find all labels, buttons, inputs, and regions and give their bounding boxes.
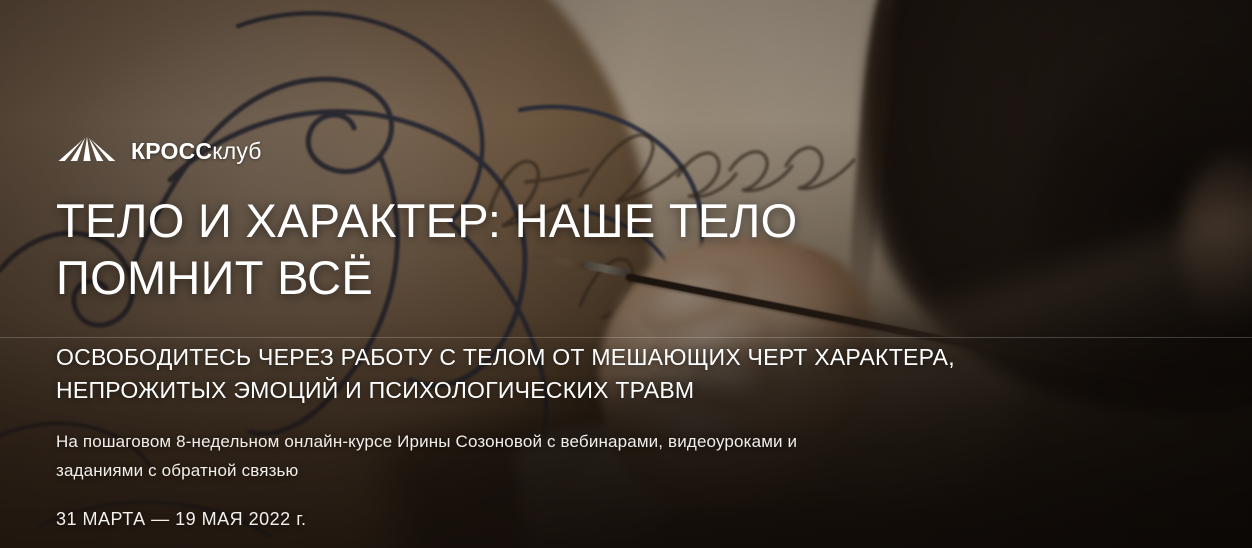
page-subtitle: ОСВОБОДИТЕСЬ ЧЕРЕЗ РАБОТУ С ТЕЛОМ ОТ МЕШ…: [56, 341, 955, 407]
course-description-line-2: заданиями с обратной связью: [56, 461, 298, 480]
brand-wordmark-caps: КРОСС: [131, 138, 212, 164]
page-title-line-1: ТЕЛО И ХАРАКТЕР: НАШЕ ТЕЛО: [56, 194, 798, 247]
course-dates: 31 МАРТА — 19 МАЯ 2022 г.: [56, 509, 307, 530]
section-divider: [0, 337, 1252, 338]
page-title: ТЕЛО И ХАРАКТЕР: НАШЕ ТЕЛО ПОМНИТ ВСЁ: [56, 193, 798, 307]
page-subtitle-line-1: ОСВОБОДИТЕСЬ ЧЕРЕЗ РАБОТУ С ТЕЛОМ ОТ МЕШ…: [56, 344, 955, 370]
brand-logo[interactable]: КРОССклуб: [56, 136, 262, 167]
page-subtitle-line-2: НЕПРОЖИТЫХ ЭМОЦИЙ И ПСИХОЛОГИЧЕСКИХ ТРАВ…: [56, 377, 694, 403]
course-description-line-1: На пошаговом 8-недельном онлайн-курсе Ир…: [56, 432, 797, 451]
hero-banner: КРОССклуб ТЕЛО И ХАРАКТЕР: НАШЕ ТЕЛО ПОМ…: [0, 0, 1252, 548]
page-title-line-2: ПОМНИТ ВСЁ: [56, 251, 373, 304]
cross-club-fan-logo-icon: [56, 136, 118, 167]
course-description: На пошаговом 8-недельном онлайн-курсе Ир…: [56, 427, 797, 485]
brand-wordmark: КРОССклуб: [131, 140, 262, 163]
brand-wordmark-lower: клуб: [212, 138, 261, 164]
hero-content: КРОССклуб ТЕЛО И ХАРАКТЕР: НАШЕ ТЕЛО ПОМ…: [0, 0, 1252, 548]
